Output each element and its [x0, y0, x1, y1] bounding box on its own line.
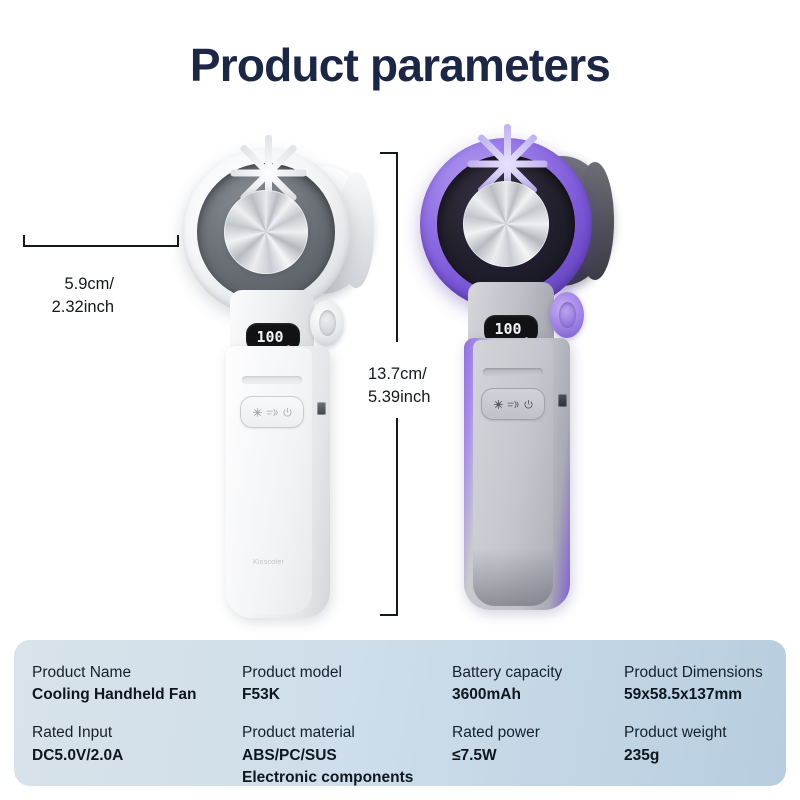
fan-handle-base-shade	[473, 548, 553, 606]
fan-hinge-knob-inner	[319, 310, 336, 336]
width-caliper-cap-left	[23, 235, 25, 246]
spec-cell-rated-input: Rated Input DC5.0V/2.0A	[32, 722, 242, 788]
page-title: Product parameters	[0, 42, 800, 88]
width-dimension-metric: 5.9cm/	[10, 273, 114, 296]
fan-metal-hub	[224, 190, 308, 274]
spec-value: Cooling Handheld Fan	[32, 684, 236, 706]
fan-hinge-knob-inner	[559, 302, 576, 328]
height-caliper-bar-upper	[396, 152, 398, 342]
spec-key: Rated power	[452, 722, 618, 744]
spec-value: DC5.0V/2.0A	[32, 745, 236, 767]
fan-handle-face	[232, 348, 312, 614]
fan-control-button[interactable]	[240, 396, 304, 428]
spec-key: Product Dimensions	[624, 662, 798, 684]
spec-value: ≤7.5W	[452, 745, 618, 767]
spec-value: 235g	[624, 745, 798, 767]
spec-cell-product-name: Product Name Cooling Handheld Fan	[32, 662, 242, 706]
snowflake-icon	[252, 407, 263, 418]
spec-cell-product-weight: Product weight 235g	[624, 722, 800, 788]
spec-cell-product-model: Product model F53K	[242, 662, 452, 706]
brand-mark: Kinscoter	[253, 559, 284, 566]
wind-icon	[266, 407, 279, 418]
height-caliper-bar-lower	[396, 418, 398, 615]
fan-vent-slot	[483, 368, 543, 376]
spec-key: Battery capacity	[452, 662, 618, 684]
product-stage: 100	[0, 130, 800, 630]
height-dimension-label: 13.7cm/ 5.39inch	[368, 363, 430, 410]
spec-value: ABS/PC/SUS Electronic components	[242, 745, 446, 789]
height-dimension-metric: 13.7cm/	[368, 363, 430, 386]
wind-icon	[507, 399, 520, 410]
fan-control-button[interactable]	[481, 388, 545, 420]
spec-cell-product-material: Product material ABS/PC/SUS Electronic c…	[242, 722, 452, 788]
spec-key: Product model	[242, 662, 446, 684]
spec-panel: Product Name Cooling Handheld Fan Produc…	[14, 640, 786, 786]
display-digits: 100	[256, 330, 283, 345]
spec-cell-rated-power: Rated power ≤7.5W	[452, 722, 624, 788]
spec-grid: Product Name Cooling Handheld Fan Produc…	[14, 662, 786, 789]
width-dimension-imperial: 2.32inch	[10, 296, 114, 319]
spec-cell-battery-capacity: Battery capacity 3600mAh	[452, 662, 624, 706]
power-icon	[282, 407, 293, 418]
width-caliper-cap-right	[177, 235, 179, 246]
power-icon	[523, 399, 534, 410]
spec-key: Rated Input	[32, 722, 236, 744]
height-dimension-imperial: 5.39inch	[368, 386, 430, 409]
spec-value: 3600mAh	[452, 684, 618, 706]
purple-handheld-fan: 100	[410, 130, 640, 630]
snowflake-icon	[493, 399, 504, 410]
white-handheld-fan: 100	[170, 140, 400, 640]
height-caliper-cap-bottom	[380, 614, 398, 616]
spec-value: F53K	[242, 684, 446, 706]
spec-value: 59x58.5x137mm	[624, 684, 798, 706]
spec-key: Product Name	[32, 662, 236, 684]
usb-c-port	[317, 402, 326, 415]
width-caliper-bar	[23, 245, 179, 247]
fan-vent-slot	[242, 376, 302, 384]
spec-cell-product-dimensions: Product Dimensions 59x58.5x137mm	[624, 662, 800, 706]
display-digits: 100	[494, 322, 521, 337]
width-dimension-label: 5.9cm/ 2.32inch	[10, 273, 114, 320]
spec-key: Product material	[242, 722, 446, 744]
usb-c-port	[558, 394, 567, 407]
fan-metal-hub	[463, 181, 549, 267]
spec-key: Product weight	[624, 722, 798, 744]
